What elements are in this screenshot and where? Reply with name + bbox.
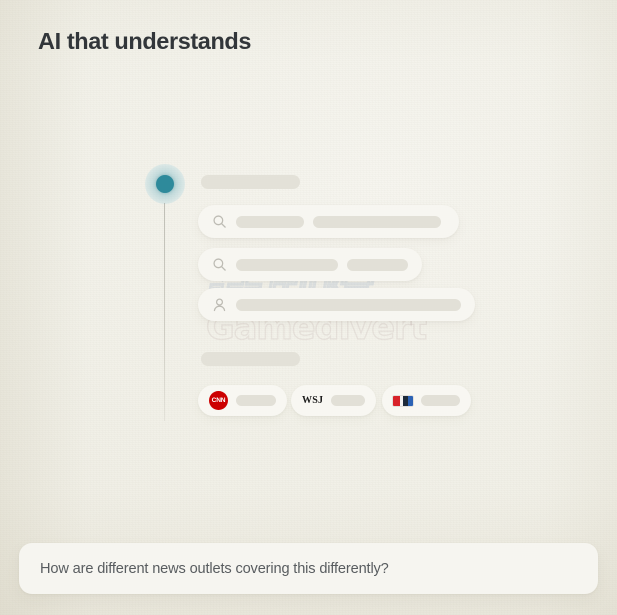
ai-understanding-illustration: 话剧院 Gamedivert	[0, 0, 617, 520]
source-chip-news-network[interactable]	[382, 385, 471, 416]
cnn-logo: CNN	[209, 391, 228, 410]
wsj-logo: WSJ	[302, 395, 323, 406]
prompt-input-bar[interactable]: How are different news outlets covering …	[19, 543, 598, 594]
news-network-logo	[393, 396, 413, 406]
search-result-row-1[interactable]	[198, 205, 459, 238]
chip-skeleton-label	[236, 395, 276, 406]
user-icon	[212, 297, 227, 312]
row-skeleton-segment	[236, 216, 304, 228]
vertical-connector-line	[164, 203, 165, 421]
active-node-dot	[145, 164, 185, 204]
row-skeleton-segment	[236, 259, 338, 271]
source-chip-cnn[interactable]: CNN	[198, 385, 287, 416]
search-icon	[212, 257, 227, 272]
skeleton-bar-bottom	[201, 352, 300, 366]
skeleton-bar-top	[201, 175, 300, 189]
row-skeleton-segment	[236, 299, 461, 311]
row-skeleton-segment	[347, 259, 408, 271]
search-icon	[212, 214, 227, 229]
source-chip-wsj[interactable]: WSJ	[291, 385, 376, 416]
chip-skeleton-label	[331, 395, 365, 406]
search-result-row-2[interactable]	[198, 248, 422, 281]
row-skeleton-segment	[313, 216, 441, 228]
chip-skeleton-label	[421, 395, 460, 406]
source-attribution-row[interactable]	[198, 288, 475, 321]
prompt-input-value[interactable]: How are different news outlets covering …	[40, 561, 389, 577]
